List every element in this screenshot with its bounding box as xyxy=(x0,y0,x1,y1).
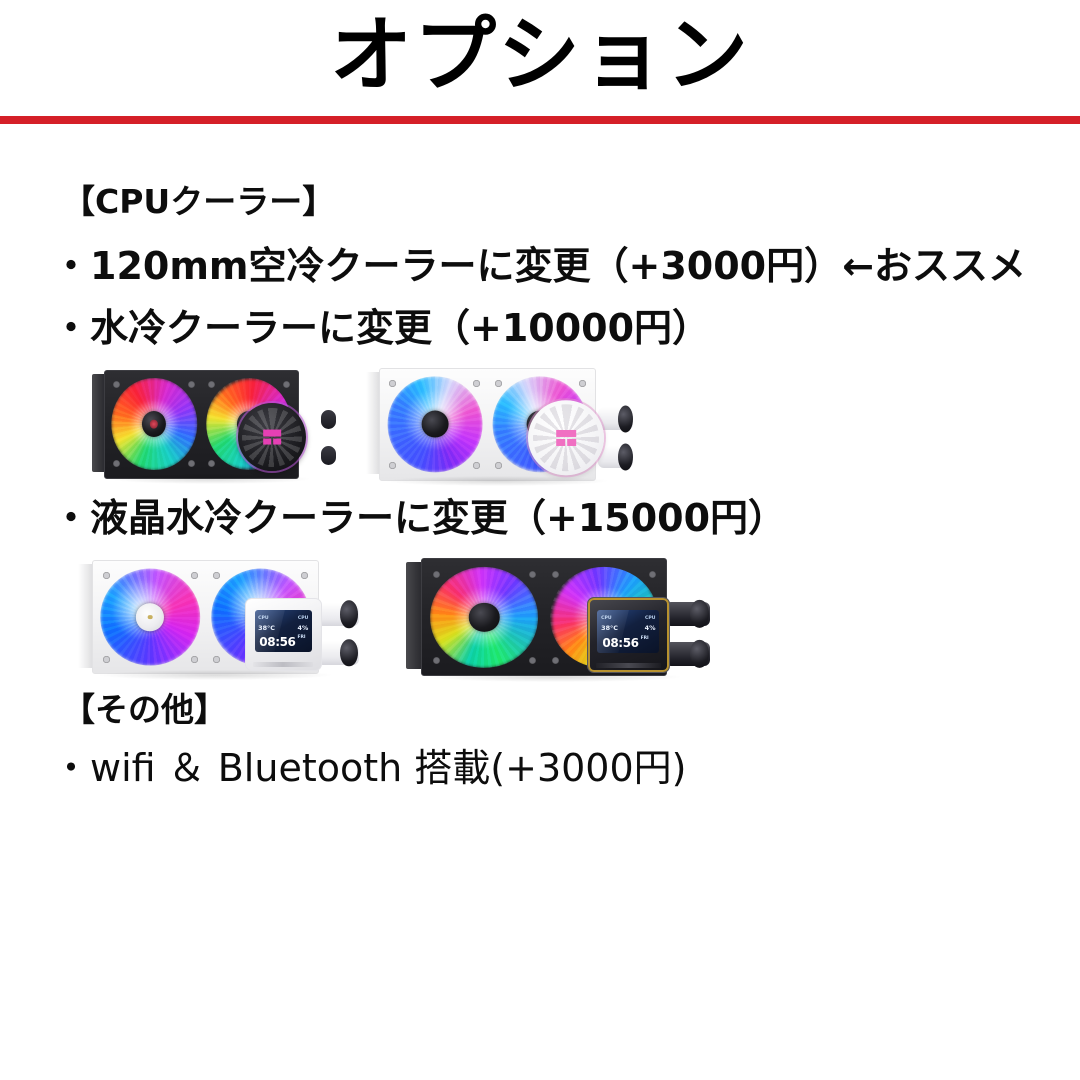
lcd-value-right: 4% xyxy=(645,625,656,631)
section-heading-other: 【その他】 xyxy=(62,690,227,730)
pump-head xyxy=(528,396,633,480)
screw-icon xyxy=(208,381,215,388)
lcd-clock-note: FRI xyxy=(641,636,649,641)
screw-icon xyxy=(495,462,502,469)
thermalright-logo-icon xyxy=(556,430,576,447)
thermalright-logo-icon xyxy=(263,430,281,445)
pump-cap-spiral xyxy=(528,400,603,475)
lcd-value-left: 38°C xyxy=(601,625,618,631)
screw-icon xyxy=(389,462,396,469)
section-heading-cpu-cooler: 【CPUクーラー】 xyxy=(62,182,335,222)
screw-icon xyxy=(103,572,110,579)
lcd-value-left: 38°C xyxy=(258,625,275,631)
lcd-clock: 08:56FRI xyxy=(602,637,648,649)
fan-hub xyxy=(142,411,166,437)
title-divider xyxy=(0,116,1080,124)
pump-block: CPU CPU 38°C 4% 08:56FRI xyxy=(587,597,670,673)
tube-fittings xyxy=(317,601,358,666)
fan-1 xyxy=(108,374,201,474)
screw-icon xyxy=(649,571,656,578)
lcd-label-right: CPU xyxy=(645,617,655,622)
product-image-white-aio-cooler xyxy=(366,366,628,482)
fan-1 xyxy=(96,565,204,670)
screw-icon xyxy=(552,571,559,578)
pump-head xyxy=(238,397,332,478)
barb-fitting xyxy=(317,603,358,626)
screw-icon xyxy=(191,572,198,579)
screw-icon xyxy=(495,380,502,387)
screw-icon xyxy=(552,657,559,664)
lcd-display: CPU CPU 38°C 4% 08:56FRI xyxy=(597,610,659,653)
option-wifi-bluetooth: ・wifi ＆ Bluetooth 搭載(+3000円) xyxy=(52,745,686,791)
screw-icon xyxy=(529,571,536,578)
product-shadow xyxy=(430,672,680,682)
screw-icon xyxy=(473,462,480,469)
option-air-cooler-120mm: ・120mm空冷クーラーに変更（+3000円）←おススメ xyxy=(52,243,1026,289)
slide-canvas: オプション 【CPUクーラー】 ・120mm空冷クーラーに変更（+3000円）←… xyxy=(0,0,1080,1080)
screw-icon xyxy=(113,381,120,388)
lcd-label-right: CPU xyxy=(298,617,308,622)
screw-icon xyxy=(188,381,195,388)
option-lcd-liquid-cooler: ・液晶水冷クーラーに変更（+15000円） xyxy=(52,495,786,541)
barb-fitting xyxy=(665,642,710,666)
screw-icon xyxy=(389,380,396,387)
screw-icon xyxy=(191,656,198,663)
screw-icon xyxy=(579,380,586,387)
product-shadow xyxy=(387,476,607,486)
screw-icon xyxy=(113,460,120,467)
screw-icon xyxy=(213,572,220,579)
screw-icon xyxy=(301,572,308,579)
barb-fitting xyxy=(598,446,634,469)
product-image-black-lcd-aio-cooler: CPU CPU 38°C 4% 08:56FRI xyxy=(406,556,704,678)
product-shadow xyxy=(111,474,309,484)
lcd-value-right: 4% xyxy=(297,625,308,631)
product-image-white-lcd-aio-cooler: CPU CPU 38°C 4% 08:56FRI xyxy=(78,558,353,676)
fan-1 xyxy=(383,373,486,477)
page-title: オプション xyxy=(0,6,1080,106)
pump-cap-spiral xyxy=(238,403,306,471)
option-liquid-cooler: ・水冷クーラーに変更（+10000円） xyxy=(52,305,710,351)
fan-1 xyxy=(426,563,543,672)
radiator-side-panel xyxy=(406,562,422,669)
coolant-tube xyxy=(321,410,336,429)
screw-icon xyxy=(188,460,195,467)
coolant-tube xyxy=(321,446,336,465)
screw-icon xyxy=(473,380,480,387)
brand-strip xyxy=(596,663,661,668)
lcd-clock-time: 08:56 xyxy=(602,636,638,650)
screw-icon xyxy=(283,381,290,388)
lcd-clock: 08:56FRI xyxy=(259,636,305,648)
pump-head-lcd: CPU CPU 38°C 4% 08:56FRI xyxy=(238,591,359,676)
pump-head-lcd: CPU CPU 38°C 4% 08:56FRI xyxy=(579,590,710,678)
barb-fitting xyxy=(317,641,358,664)
barb-fitting xyxy=(665,602,710,626)
screw-icon xyxy=(433,657,440,664)
lcd-clock-note: FRI xyxy=(298,635,306,640)
screw-icon xyxy=(213,656,220,663)
tube-fittings xyxy=(665,601,710,668)
product-shadow xyxy=(100,670,331,680)
lcd-display: CPU CPU 38°C 4% 08:56FRI xyxy=(255,610,312,651)
lcd-label-left: CPU xyxy=(601,617,611,622)
barb-fitting xyxy=(598,407,634,430)
radiator-side-panel xyxy=(78,564,93,668)
product-image-black-aio-cooler xyxy=(92,368,328,480)
lcd-label-left: CPU xyxy=(258,617,268,622)
screw-icon xyxy=(208,460,215,467)
fan-hub xyxy=(421,411,448,438)
screw-icon xyxy=(433,571,440,578)
lcd-clock-time: 08:56 xyxy=(259,635,295,649)
brand-strip xyxy=(253,662,313,667)
pump-block: CPU CPU 38°C 4% 08:56FRI xyxy=(245,598,322,671)
screw-icon xyxy=(529,657,536,664)
screw-icon xyxy=(103,656,110,663)
